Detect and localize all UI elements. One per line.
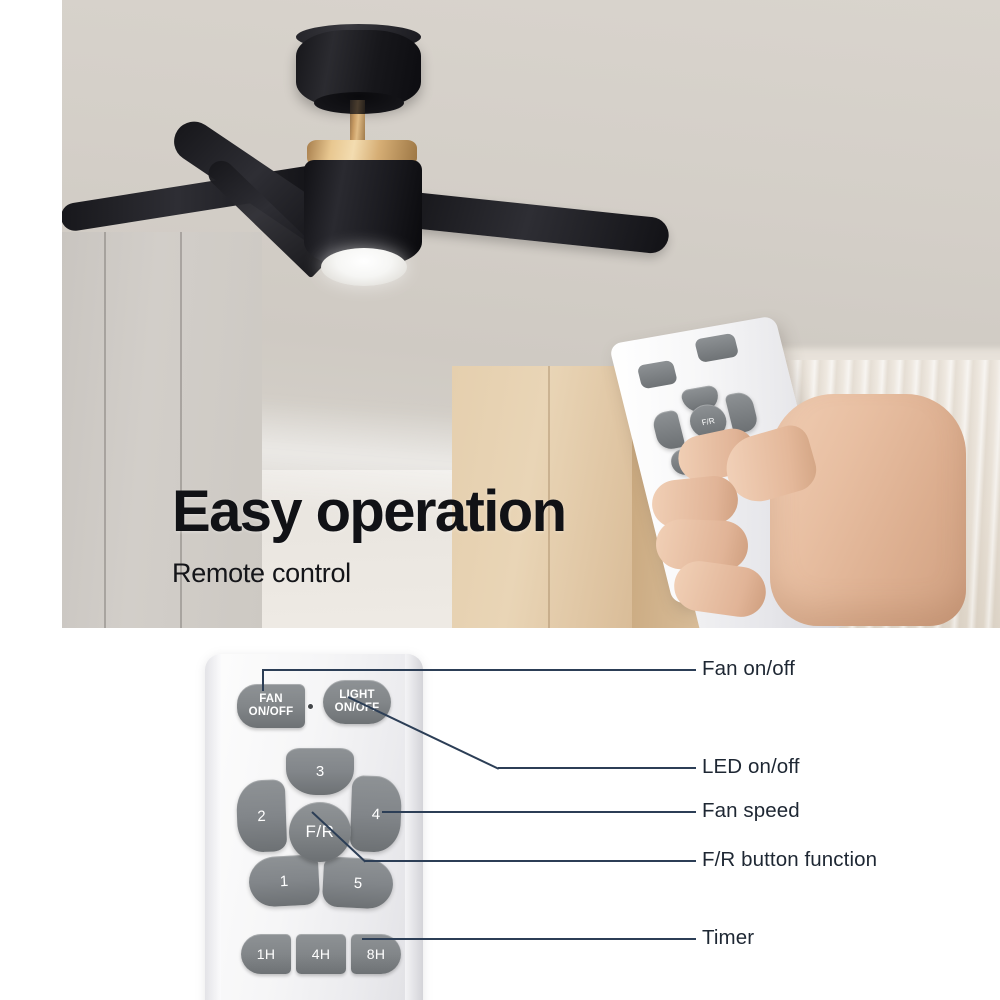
timer-1h-button[interactable]: 1H [241,934,291,974]
fan-speed-dial: 3 2 4 1 5 F/R [225,748,405,916]
fan-blade-right [410,192,670,255]
annotation-timer: Timer [702,926,754,950]
fan-power-label-line2: ON/OFF [249,706,294,719]
timer-button-row: 1H 4H 8H [241,934,401,974]
leader-fan-on-off [262,669,696,671]
light-power-button-photo [694,333,739,363]
ceiling-fan [222,12,642,342]
product-feature-page: F/R 1H 4H 8H Easy operation Remote contr… [0,0,1000,1000]
fan-downrod-collar [350,100,365,114]
fan-led-light-disc [321,248,407,286]
annotation-fan-on-off: Fan on/off [702,657,795,681]
fan-power-label-line1: FAN [259,693,283,706]
annotation-fan-speed: Fan speed [702,799,800,823]
ir-led-dot [308,704,313,709]
speed-button-2[interactable]: 2 [236,779,287,853]
leader-fan-speed [382,811,696,813]
remote-control-illustration: FAN ON/OFF LIGHT ON/OFF 3 2 4 1 5 F/R 1H… [205,654,423,1000]
fr-button[interactable]: F/R [289,802,351,862]
fan-power-button[interactable]: FAN ON/OFF [237,684,305,728]
leader-fan-on-off-stem [262,669,264,691]
wall-panel-seam [104,232,106,628]
remote-callout-diagram: FAN ON/OFF LIGHT ON/OFF 3 2 4 1 5 F/R 1H… [0,628,1000,1000]
page-title: Easy operation [172,483,565,541]
annotation-led-on-off: LED on/off [702,755,800,779]
speed-4-photo [724,391,759,434]
timer-8h-button[interactable]: 8H [351,934,401,974]
speed-button-5[interactable]: 5 [322,856,395,910]
annotation-fr-button-function: F/R button function [702,848,877,872]
leader-timer [362,938,696,940]
speed-button-1[interactable]: 1 [248,854,321,908]
fan-power-button-photo [637,360,678,390]
leader-fr-button-function [364,860,696,862]
remote-right-bevel [405,654,423,1000]
hero-photo: F/R 1H 4H 8H Easy operation Remote contr… [62,0,1000,628]
timer-4h-button[interactable]: 4H [296,934,346,974]
leader-led-on-off [498,767,696,769]
speed-button-4[interactable]: 4 [350,775,403,853]
remote-left-bevel [205,654,221,1000]
page-subtitle: Remote control [172,558,351,589]
speed-button-3[interactable]: 3 [286,748,354,795]
hand-holding-remote: F/R 1H 4H 8H [622,320,1000,628]
speed-2-photo [651,410,686,451]
